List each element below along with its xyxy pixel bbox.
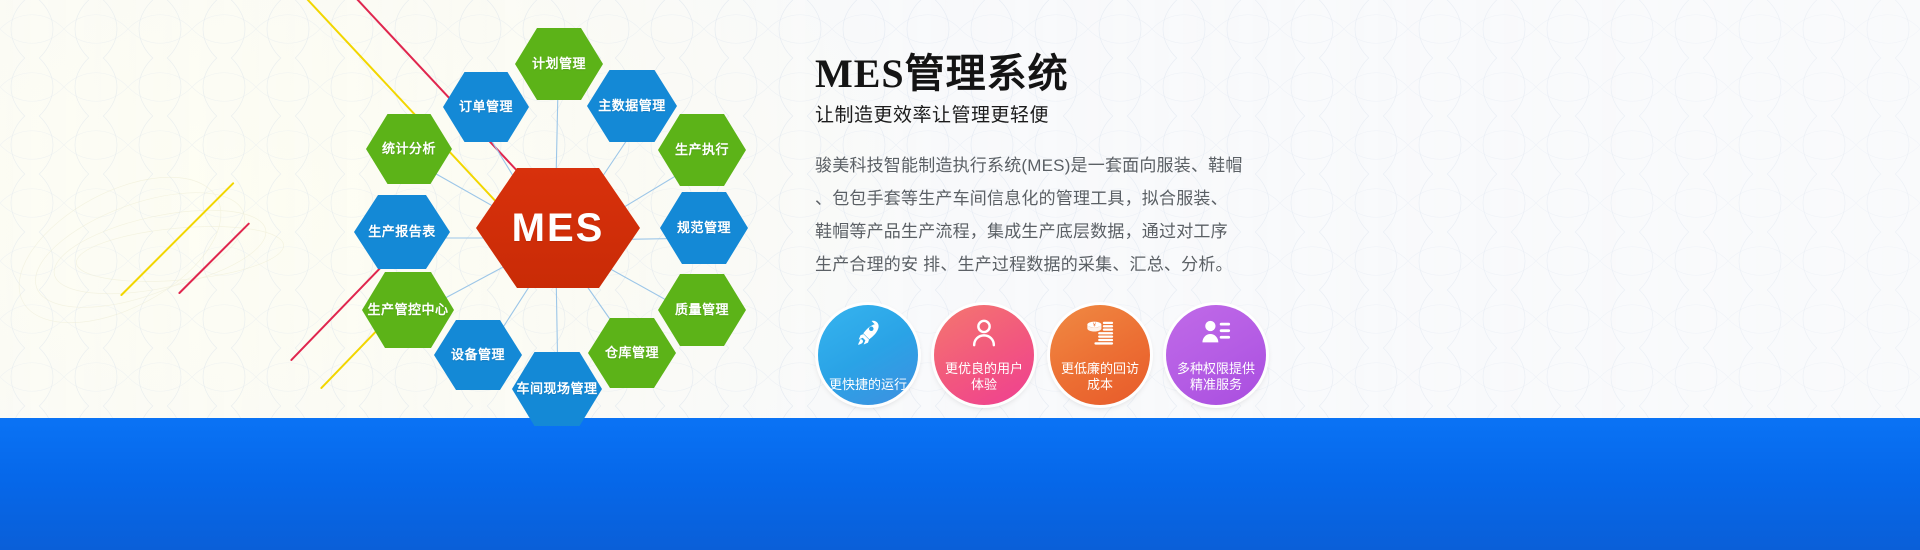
diagram-node-1-label: 订单管理 <box>455 100 517 115</box>
coins-icon: ¥ <box>1085 318 1115 348</box>
banner-stage: MES 计划管理 订单管理 主数据管理 统计分析 生产执行 生产报告表 规范管理… <box>0 0 1920 550</box>
feature-badge-lower-cost-line2: 成本 <box>1081 377 1119 393</box>
diagram-node-2-label: 主数据管理 <box>594 99 670 114</box>
diagram-node-4-label: 生产执行 <box>671 143 733 158</box>
page-subtitle: 让制造更效率让管理更轻便 <box>815 100 1335 127</box>
mes-hexagon-diagram: MES 计划管理 订单管理 主数据管理 统计分析 生产执行 生产报告表 规范管理… <box>330 0 770 430</box>
diagram-node-6-label: 规范管理 <box>673 221 735 236</box>
description-line-2: 、包包手套等生产车间信息化的管理工具，拟合服装、 <box>815 182 1335 215</box>
diagram-node-0-label: 计划管理 <box>528 57 590 72</box>
diagram-node-11-label: 车间现场管理 <box>512 382 601 397</box>
feature-badge-faster-operation[interactable]: 更快捷的运行 <box>818 305 918 405</box>
description-paragraph: 骏美科技智能制造执行系统(MES)是一套面向服装、鞋帽 、包包手套等生产车间信息… <box>815 149 1335 282</box>
feature-badge-better-ux-line2: 体验 <box>965 377 1003 393</box>
user-list-icon <box>1201 318 1231 348</box>
diagram-node-10-label: 仓库管理 <box>601 346 663 361</box>
diagram-node-8-label: 质量管理 <box>671 303 733 318</box>
feature-badge-lower-cost[interactable]: ¥ 更低廉的回访 成本 <box>1050 305 1150 405</box>
feature-badges: 更快捷的运行 更优良的用户 体验 ¥ <box>818 305 1266 405</box>
diagram-node-5-label: 生产报告表 <box>364 225 440 240</box>
user-icon <box>969 318 999 348</box>
feature-badge-permissions[interactable]: 多种权限提供 精准服务 <box>1166 305 1266 405</box>
banner-copy: MES管理系统 让制造更效率让管理更轻便 骏美科技智能制造执行系统(MES)是一… <box>815 52 1335 282</box>
description-line-1: 骏美科技智能制造执行系统(MES)是一套面向服装、鞋帽 <box>815 149 1335 182</box>
feature-badge-permissions-line1: 多种权限提供 <box>1171 361 1261 377</box>
diagram-node-3-label: 统计分析 <box>378 142 440 157</box>
diagram-node-9-label: 设备管理 <box>447 348 509 363</box>
description-line-3: 鞋帽等产品生产流程，集成生产底层数据，通过对工序 <box>815 215 1335 248</box>
feature-badge-better-ux[interactable]: 更优良的用户 体验 <box>934 305 1034 405</box>
feature-badge-lower-cost-line1: 更低廉的回访 <box>1055 361 1145 377</box>
rocket-icon <box>853 318 883 348</box>
feature-badge-permissions-line2: 精准服务 <box>1184 377 1248 393</box>
page-title: MES管理系统 <box>815 52 1335 96</box>
feature-badge-better-ux-line1: 更优良的用户 <box>939 361 1029 377</box>
diagram-node-7-label: 生产管控中心 <box>363 303 452 318</box>
description-line-4: 生产合理的安 排、生产过程数据的采集、汇总、分析。 <box>815 248 1335 281</box>
feature-badge-faster-operation-line1: 更快捷的运行 <box>823 377 913 393</box>
diagram-center-label: MES <box>508 205 609 251</box>
background-blue-band <box>0 418 1920 550</box>
